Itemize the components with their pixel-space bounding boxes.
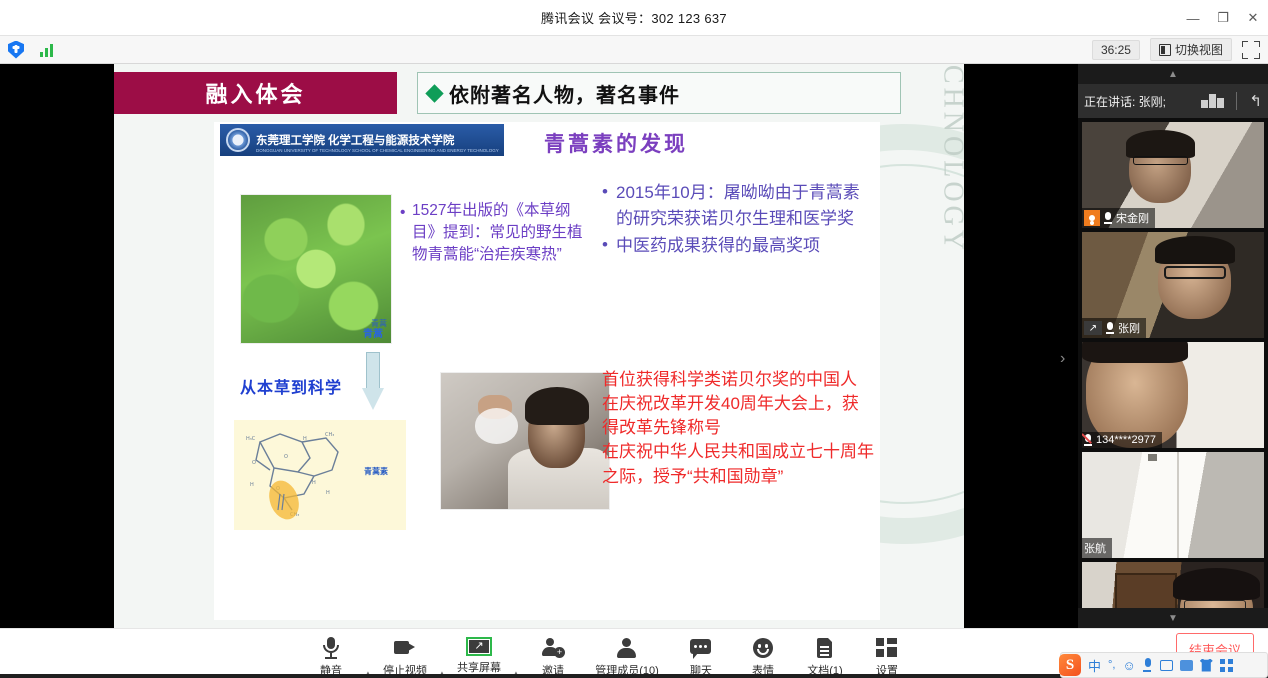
active-speaker-bar: 正在讲话: 张刚; ↰ (1078, 84, 1268, 118)
molecule-svg: H₃C O O CH₃ H H O H H CH₃ (240, 424, 358, 520)
close-button[interactable]: ✕ (1238, 0, 1268, 36)
panel-scroll-down-button[interactable]: ▼ (1078, 608, 1268, 628)
slide-bullet-left: • 1527年出版的《本草纲目》提到：常见的野生植物青蒿能“治疟疾寒热” (412, 200, 587, 266)
chat-bubble-icon (689, 637, 713, 659)
window-controls: — ❐ ✕ (1178, 0, 1268, 36)
red-line-1: 首位获得科学类诺贝尔奖的中国人 (602, 368, 874, 392)
microphone-muted-icon (1084, 434, 1092, 446)
microphone-icon (319, 637, 343, 659)
molecule-label: 青蒿素 (364, 466, 388, 477)
slide-section-chip: 融入体会 (114, 72, 397, 114)
microphone-icon (1106, 322, 1114, 334)
toolbar-controls: 静音 ▲ 停止视频 ▲ 共享屏幕 ▲ 邀请 (300, 633, 918, 678)
microphone-icon (1104, 212, 1112, 224)
artemisinin-molecule-diagram: H₃C O O CH₃ H H O H H CH₃ (234, 420, 406, 530)
ime-toolbar[interactable]: S 中 °, ☺ (1060, 652, 1268, 678)
slide-bullet-left-text: 1527年出版的《本草纲目》提到：常见的野生植物青蒿能“治疟疾寒热” (412, 202, 583, 263)
back-arrow-icon[interactable]: ↰ (1249, 92, 1262, 110)
university-banner: 东莞理工学院 化学工程与能源技术学院 DONGGUAN UNIVERSITY O… (220, 124, 504, 156)
ime-emoji-icon[interactable]: ☺ (1122, 658, 1135, 673)
window-title: 腾讯会议 会议号：302 123 637 (541, 8, 727, 27)
slide-title: 青蒿素的发现 (544, 128, 688, 158)
ime-keyboard-icon[interactable] (1160, 660, 1173, 671)
slide-header-box: 依附著名人物，著名事件 (417, 72, 901, 114)
fullscreen-icon[interactable] (1242, 41, 1260, 59)
meeting-timer: 36:25 (1092, 40, 1140, 60)
participant-panel: ▲ 正在讲话: 张刚; ↰ 宋金刚 (1078, 64, 1268, 628)
members-icon (615, 637, 639, 659)
participant-nameplate: 张刚 (1082, 318, 1146, 338)
ime-language-mode[interactable]: 中 (1088, 656, 1101, 675)
participant-tile[interactable]: 张航 (1082, 452, 1264, 558)
down-arrow-icon (362, 352, 384, 414)
minimize-button[interactable]: — (1178, 0, 1208, 36)
sharing-badge-icon (1084, 321, 1102, 335)
active-speaker-label: 正在讲话: 张刚; (1084, 93, 1166, 110)
ime-apps-grid-icon[interactable] (1220, 659, 1233, 672)
university-banner-subtext: DONGGUAN UNIVERSITY OF TECHNOLOGY SCHOOL… (256, 148, 499, 153)
participant-tile[interactable]: 134****2977 (1082, 342, 1264, 448)
svg-text:H: H (312, 480, 316, 486)
participant-name: 134****2977 (1096, 434, 1156, 446)
share-screen-button-label: 共享屏幕 (457, 659, 501, 675)
svg-text:H₃C: H₃C (246, 436, 256, 442)
slide-content-panel: 东莞理工学院 化学工程与能源技术学院 DONGGUAN UNIVERSITY O… (214, 122, 880, 620)
green-diamond-bullet-icon (425, 84, 443, 102)
view-switch-button[interactable]: 切换视图 (1150, 38, 1232, 61)
restore-button[interactable]: ❐ (1208, 0, 1238, 36)
scientist-photo (440, 372, 610, 510)
shield-icon[interactable] (8, 41, 24, 59)
presentation-slide: TECHNOLOGY 融入体会 依附著名人物，著名事件 东莞理工学院 化学工程与… (114, 64, 964, 628)
participant-nameplate: 134****2977 (1082, 432, 1162, 448)
title-bar: 腾讯会议 会议号：302 123 637 — ❐ ✕ (0, 0, 1268, 36)
manage-members-button[interactable]: 管理成员(10) (584, 633, 670, 678)
svg-text:O: O (252, 460, 256, 466)
sogou-logo-icon[interactable]: S (1059, 654, 1081, 676)
view-switch-label: 切换视图 (1175, 41, 1223, 58)
meeting-stage: TECHNOLOGY 融入体会 依附著名人物，著名事件 东莞理工学院 化学工程与… (0, 64, 1268, 628)
shared-screen-area[interactable]: TECHNOLOGY 融入体会 依附著名人物，著名事件 东莞理工学院 化学工程与… (0, 64, 1078, 628)
plant-photo-tag2: 青蒿 (363, 325, 383, 340)
signal-bars-icon[interactable] (40, 43, 53, 57)
layout-icon (1159, 44, 1171, 56)
slide-header-row: 融入体会 依附著名人物，著名事件 (114, 64, 964, 112)
slide-section-chip-label: 融入体会 (205, 77, 305, 109)
participant-tile[interactable]: 张刚 (1082, 232, 1264, 338)
svg-text:O: O (284, 454, 288, 460)
collapse-panel-chevron-icon[interactable]: › (1060, 350, 1065, 368)
slide-blue-label: 从本草到科学 (240, 374, 342, 398)
slide-red-text-block: 首位获得科学类诺贝尔奖的中国人 在庆祝改革开发40周年大会上，获得改革先锋称号 … (602, 368, 874, 489)
chat-button[interactable]: 聊天 (670, 633, 732, 678)
university-banner-text: 东莞理工学院 化学工程与能源技术学院 (256, 132, 454, 148)
slide-bullets-right: 2015年10月：屠呦呦由于青蒿素的研究荣获诺贝尔生理和医学奖 中医药成果获得的… (602, 180, 864, 261)
document-icon (813, 637, 837, 659)
participant-name: 宋金刚 (1116, 210, 1149, 226)
documents-button[interactable]: 文档(1) (794, 633, 856, 678)
svg-text:H: H (303, 436, 307, 442)
ime-skin-icon[interactable] (1200, 659, 1213, 672)
ime-toolbox-icon[interactable] (1180, 660, 1193, 671)
invite-person-icon (541, 637, 565, 659)
participant-name: 张航 (1084, 540, 1106, 556)
emoji-smiley-icon (751, 637, 775, 659)
list-item: 中医药成果获得的最高奖项 (602, 233, 864, 259)
ime-punctuation-mode-icon[interactable]: °, (1108, 659, 1115, 671)
camera-icon (393, 637, 417, 659)
svg-text:H: H (250, 482, 254, 488)
mute-button[interactable]: 静音 (300, 633, 362, 678)
svg-text:CH₃: CH₃ (325, 432, 334, 438)
university-logo-icon (226, 128, 250, 152)
invite-button[interactable]: 邀请 (522, 633, 584, 678)
audio-wave-icon (1201, 94, 1224, 108)
slide-header-text: 依附著名人物，著名事件 (449, 79, 680, 108)
share-screen-button[interactable]: 共享屏幕 (448, 633, 510, 675)
list-item: 2015年10月：屠呦呦由于青蒿素的研究荣获诺贝尔生理和医学奖 (602, 180, 864, 231)
red-line-3: 在庆祝中华人民共和国成立七十周年之际，授予“共和国勋章” (602, 440, 874, 488)
settings-grid-icon (875, 637, 899, 659)
participant-nameplate: 张航 (1082, 538, 1112, 558)
participant-name: 张刚 (1118, 320, 1140, 336)
meeting-subbar: 36:25 切换视图 (0, 36, 1268, 64)
bullet-dot-icon: • (400, 202, 405, 224)
emoji-button[interactable]: 表情 (732, 633, 794, 678)
subbar-right-group: 36:25 切换视图 (1092, 38, 1268, 61)
share-screen-icon (466, 637, 492, 656)
red-line-2: 在庆祝改革开发40周年大会上，获得改革先锋称号 (602, 392, 874, 440)
ime-voice-input-icon[interactable] (1143, 658, 1153, 672)
settings-button[interactable]: 设置 (856, 633, 918, 678)
participant-tile[interactable]: 宋金刚 (1082, 122, 1264, 228)
divider (1236, 92, 1237, 110)
panel-scroll-up-button[interactable]: ▲ (1078, 64, 1268, 84)
svg-text:H: H (326, 490, 330, 496)
artemisia-plant-photo: 青蒿 青蒿 (240, 194, 392, 344)
stop-video-button[interactable]: 停止视频 (374, 633, 436, 678)
meeting-window: 腾讯会议 会议号：302 123 637 — ❐ ✕ 36:25 切换视图 (0, 0, 1268, 678)
host-badge-icon (1084, 210, 1100, 226)
participant-nameplate: 宋金刚 (1082, 208, 1155, 228)
